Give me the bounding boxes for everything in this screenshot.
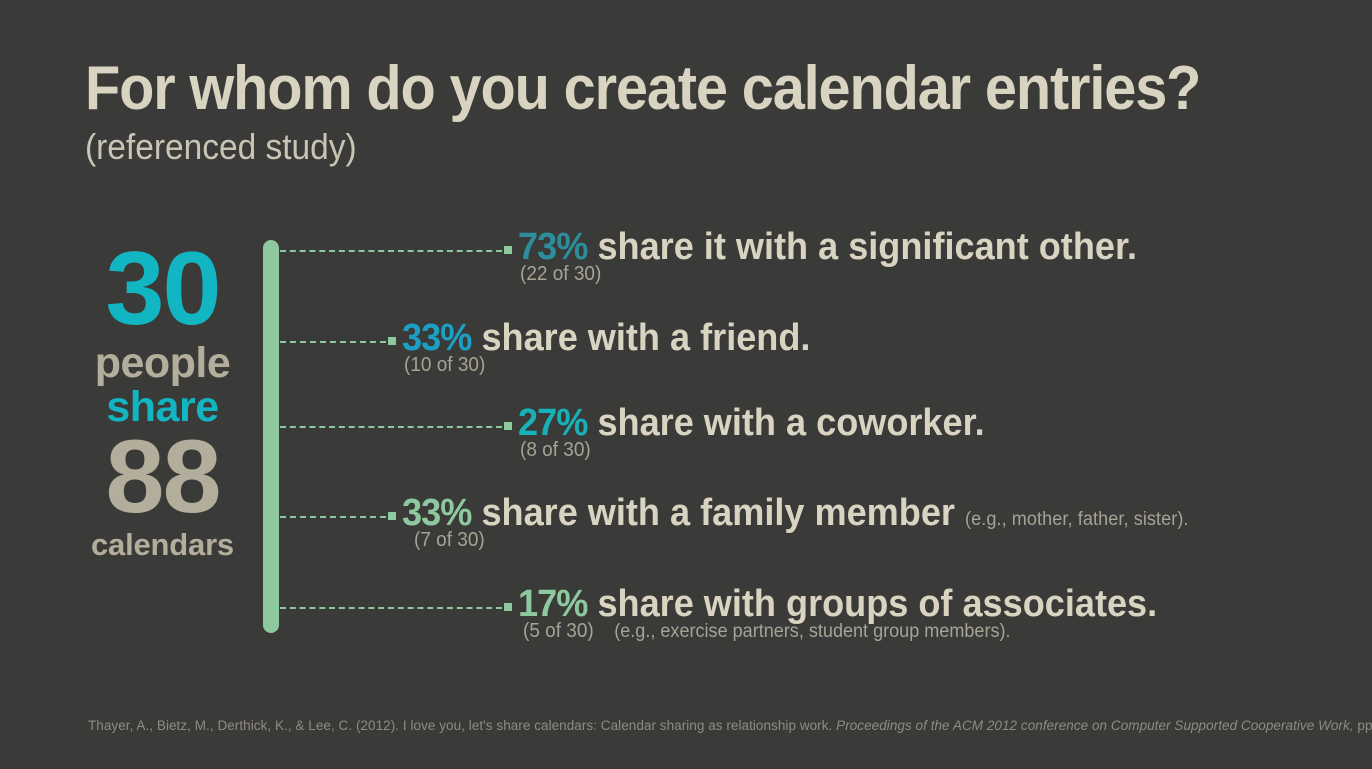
connector-line (280, 250, 502, 252)
row-count-text: (10 of 30) (404, 354, 485, 376)
row-count-text: (8 of 30) (520, 439, 591, 461)
stat-calendars-count: 88 (83, 433, 241, 522)
slide-canvas: For whom do you create calendar entries?… (0, 0, 1372, 769)
row-count-text: (5 of 30) (523, 620, 594, 642)
row-count-text: (7 of 30) (414, 529, 485, 551)
row-percent: 73% (518, 226, 587, 268)
page-subtitle: (referenced study) (85, 126, 1200, 167)
citation-pages: pp 749-758 (1357, 718, 1372, 733)
citation-source-italic: Proceedings of the ACM 2012 conference o… (836, 718, 1353, 733)
row-label: share with a family member (481, 492, 955, 534)
stat-people-label: people (85, 342, 240, 385)
row-count: (5 of 30) (e.g., exercise partners, stud… (523, 621, 1011, 641)
title-block: For whom do you create calendar entries?… (85, 58, 1284, 167)
row-main-text: 33% share with a family member (e.g., mo… (402, 494, 1189, 532)
row-count: (22 of 30) (520, 264, 601, 284)
row-example: (e.g., mother, father, sister). (965, 509, 1189, 530)
row-label: share with a coworker. (597, 402, 984, 444)
page-title: For whom do you create calendar entries? (85, 58, 1200, 120)
connector-line (280, 341, 386, 343)
connector-marker (388, 512, 396, 520)
row-count-text: (22 of 30) (520, 263, 601, 285)
row-count: (10 of 30) (404, 355, 485, 375)
row-label: share it with a significant other. (597, 226, 1137, 268)
stat-people-count: 30 (83, 245, 241, 334)
row-label: share with groups of associates. (597, 583, 1157, 625)
row-example: (e.g., exercise partners, student group … (614, 621, 1010, 642)
citation-part1: Thayer, A., Bietz, M., Derthick, K., & L… (88, 718, 832, 733)
connector-marker (504, 603, 512, 611)
row-count: (7 of 30) (414, 530, 485, 550)
row-main-text: 27% share with a coworker. (518, 404, 985, 442)
row-main-text: 73% share it with a significant other. (518, 228, 1137, 266)
row-label: share with a friend. (481, 317, 810, 359)
stat-summary-block: 30 people share 88 calendars (85, 245, 240, 560)
connector-marker (504, 246, 512, 254)
connector-marker (504, 422, 512, 430)
row-percent: 17% (518, 583, 587, 625)
row-main-text: 17% share with groups of associates. (518, 585, 1157, 623)
connector-line (280, 516, 386, 518)
citation: Thayer, A., Bietz, M., Derthick, K., & L… (88, 718, 1372, 734)
vertical-accent-bar (263, 240, 279, 633)
row-count: (8 of 30) (520, 440, 591, 460)
connector-marker (388, 337, 396, 345)
row-main-text: 33% share with a friend. (402, 319, 810, 357)
row-percent: 27% (518, 402, 587, 444)
connector-line (280, 426, 502, 428)
row-percent: 33% (402, 492, 471, 534)
row-percent: 33% (402, 317, 471, 359)
connector-line (280, 607, 502, 609)
